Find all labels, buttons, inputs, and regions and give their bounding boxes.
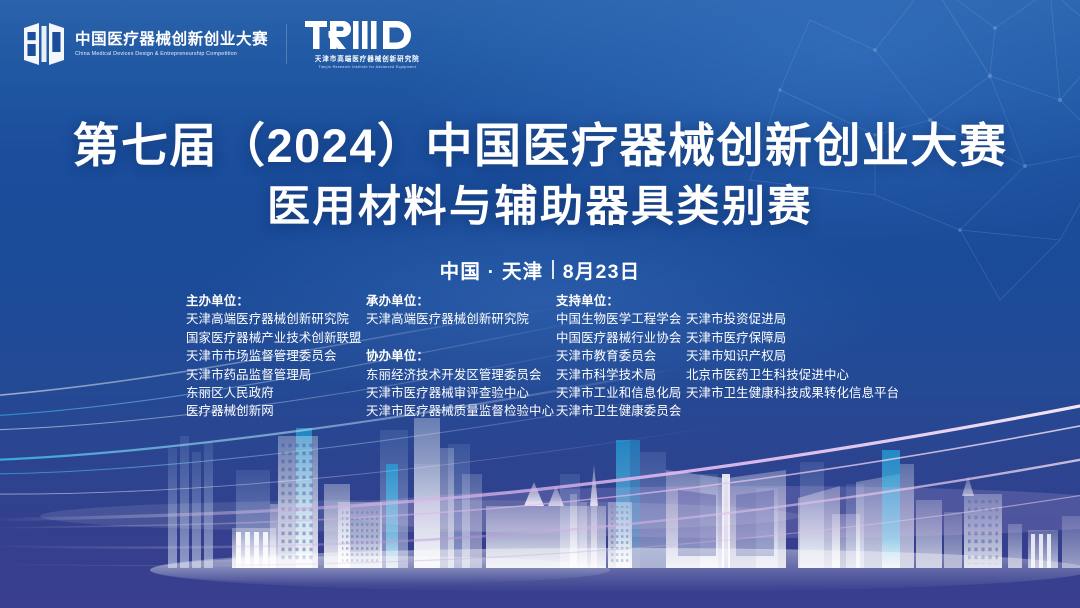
organizer-item: 天津市医疗器械质量监督检验中心	[366, 402, 556, 420]
organizer-column-host: 主办单位： 天津高端医疗器械创新研究院 国家医疗器械产业技术创新联盟 天津市市场…	[186, 292, 366, 421]
organizer-heading: 承办单位：	[366, 292, 556, 310]
organizer-item: 天津市医疗器械审评查验中心	[366, 384, 556, 402]
organizer-item: 天津市科学技术局	[556, 366, 686, 384]
organizer-heading: 协办单位：	[366, 347, 556, 365]
competition-logo: 中国医疗器械创新创业大赛 China Medical Devices Desig…	[22, 20, 268, 68]
organizer-column-undertaker: 承办单位： 天津高端医疗器械创新研究院 协办单位： 东丽经济技术开发区管理委员会…	[366, 292, 556, 421]
main-title-line1: 第七届（2024）中国医疗器械创新创业大赛	[0, 117, 1080, 174]
organizer-item: 中国生物医学工程学会	[556, 310, 686, 328]
triid-logo-cn: 天津市高端医疗器械创新研究院	[315, 53, 420, 63]
organizer-item: 天津市卫生健康委员会	[556, 402, 686, 420]
triid-logo-en: Tianjin Research Institute for Advanced …	[318, 65, 416, 69]
competition-logo-en: China Medical Devices Design & Entrepren…	[75, 51, 268, 58]
organizer-item: 天津市医疗保障局	[686, 329, 896, 347]
organizer-item: 天津市知识产权局	[686, 347, 896, 365]
open-door-book-logo-icon	[22, 20, 66, 68]
event-subtitle: 中国 · 天津 8月23日	[0, 255, 1080, 284]
organizer-item: 天津市工业和信息化局	[556, 384, 686, 402]
organizer-spacer	[366, 329, 556, 347]
organizer-column-support-2: 天津市投资促进局 天津市医疗保障局 天津市知识产权局 北京市医药卫生科技促进中心…	[686, 292, 896, 421]
logo-bar: 中国医疗器械创新创业大赛 China Medical Devices Desig…	[22, 20, 429, 69]
organizer-item: 天津市卫生健康科技成果转化信息平台	[686, 384, 896, 402]
organizer-item: 东丽区人民政府	[186, 384, 366, 402]
organizer-item: 北京市医药卫生科技促进中心	[686, 366, 896, 384]
organizers-block: 主办单位： 天津高端医疗器械创新研究院 国家医疗器械产业技术创新联盟 天津市市场…	[186, 292, 896, 421]
organizer-item: 医疗器械创新网	[186, 402, 366, 420]
organizer-item: 中国医疗器械行业协会	[556, 329, 686, 347]
organizer-item: 天津市药品监督管理局	[186, 366, 366, 384]
event-location: 中国 · 天津	[440, 255, 544, 284]
organizer-item: 天津市教育委员会	[556, 347, 686, 365]
triid-logo: 天津市高端医疗器械创新研究院 Tianjin Research Institut…	[305, 20, 429, 69]
event-date: 8月23日	[563, 255, 641, 284]
title-block: 第七届（2024）中国医疗器械创新创业大赛 医用材料与辅助器具类别赛 中国 · …	[0, 117, 1080, 284]
organizer-heading: 支持单位：	[556, 292, 686, 310]
organizer-heading: 主办单位：	[186, 292, 366, 310]
competition-logo-cn: 中国医疗器械创新创业大赛	[75, 31, 268, 48]
organizer-item: 天津市市场监督管理委员会	[186, 347, 366, 365]
subtitle-separator	[552, 260, 553, 279]
event-poster: 中国医疗器械创新创业大赛 China Medical Devices Desig…	[0, 0, 1080, 608]
main-title-line2: 医用材料与辅助器具类别赛	[0, 181, 1080, 233]
organizer-item: 天津高端医疗器械创新研究院	[366, 310, 556, 328]
organizer-column-support: 支持单位： 中国生物医学工程学会 中国医疗器械行业协会 天津市教育委员会 天津市…	[556, 292, 686, 421]
organizer-item: 天津市投资促进局	[686, 310, 896, 328]
organizer-item: 东丽经济技术开发区管理委员会	[366, 366, 556, 384]
organizer-item: 国家医疗器械产业技术创新联盟	[186, 329, 366, 347]
logo-divider	[286, 24, 287, 64]
organizer-item: 天津高端医疗器械创新研究院	[186, 310, 366, 328]
triid-wordmark-icon	[305, 20, 429, 50]
